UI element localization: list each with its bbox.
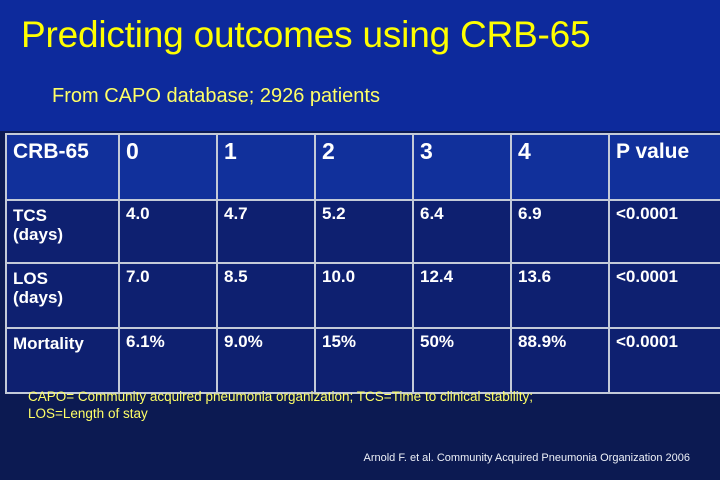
row-label-line1: LOS — [13, 269, 48, 288]
cell-los-1: 8.5 — [217, 263, 315, 328]
row-label-line2: (days) — [13, 225, 63, 244]
cell-mortality-2: 15% — [315, 328, 413, 393]
cell-los-4: 13.6 — [511, 263, 609, 328]
cell-mortality-3: 50% — [413, 328, 511, 393]
cell-los-pvalue: <0.0001 — [609, 263, 720, 328]
cell-mortality-4: 88.9% — [511, 328, 609, 393]
column-header-score-4: 4 — [511, 134, 609, 200]
column-header-score-1: 1 — [217, 134, 315, 200]
row-label-line1: Mortality — [13, 334, 84, 353]
row-label-los: LOS (days) — [6, 263, 119, 328]
column-header-crb65: CRB-65 — [6, 134, 119, 200]
cell-mortality-1: 9.0% — [217, 328, 315, 393]
row-label-tcs: TCS (days) — [6, 200, 119, 263]
table-header-row: CRB-65 0 1 2 3 4 P value — [6, 134, 720, 200]
table-row: TCS (days) 4.0 4.7 5.2 6.4 6.9 <0.0001 — [6, 200, 720, 263]
abbreviations-footnote: CAPO= Community acquired pneumonia organ… — [28, 388, 698, 422]
table-row: LOS (days) 7.0 8.5 10.0 12.4 13.6 <0.000… — [6, 263, 720, 328]
row-label-line1: TCS — [13, 206, 47, 225]
footnote-line-2: LOS=Length of stay — [28, 406, 148, 421]
column-header-score-3: 3 — [413, 134, 511, 200]
column-header-score-0: 0 — [119, 134, 217, 200]
cell-los-0: 7.0 — [119, 263, 217, 328]
cell-mortality-0: 6.1% — [119, 328, 217, 393]
row-label-line2: (days) — [13, 288, 63, 307]
column-header-score-2: 2 — [315, 134, 413, 200]
cell-tcs-2: 5.2 — [315, 200, 413, 263]
cell-tcs-3: 6.4 — [413, 200, 511, 263]
cell-tcs-4: 6.9 — [511, 200, 609, 263]
cell-los-2: 10.0 — [315, 263, 413, 328]
slide-canvas: Predicting outcomes using CRB-65 From CA… — [0, 0, 720, 480]
cell-los-3: 12.4 — [413, 263, 511, 328]
cell-tcs-1: 4.7 — [217, 200, 315, 263]
cell-mortality-pvalue: <0.0001 — [609, 328, 720, 393]
column-header-p-value: P value — [609, 134, 720, 200]
cell-tcs-pvalue: <0.0001 — [609, 200, 720, 263]
table-row: Mortality 6.1% 9.0% 15% 50% 88.9% <0.000… — [6, 328, 720, 393]
page-title: Predicting outcomes using CRB-65 — [21, 13, 711, 57]
slide-subtitle: From CAPO database; 2926 patients — [52, 84, 702, 108]
cell-tcs-0: 4.0 — [119, 200, 217, 263]
outcomes-table: CRB-65 0 1 2 3 4 P value TCS (days) 4.0 … — [5, 133, 720, 394]
footnote-line-1: CAPO= Community acquired pneumonia organ… — [28, 389, 533, 404]
source-citation: Arnold F. et al. Community Acquired Pneu… — [0, 452, 690, 464]
row-label-mortality: Mortality — [6, 328, 119, 393]
